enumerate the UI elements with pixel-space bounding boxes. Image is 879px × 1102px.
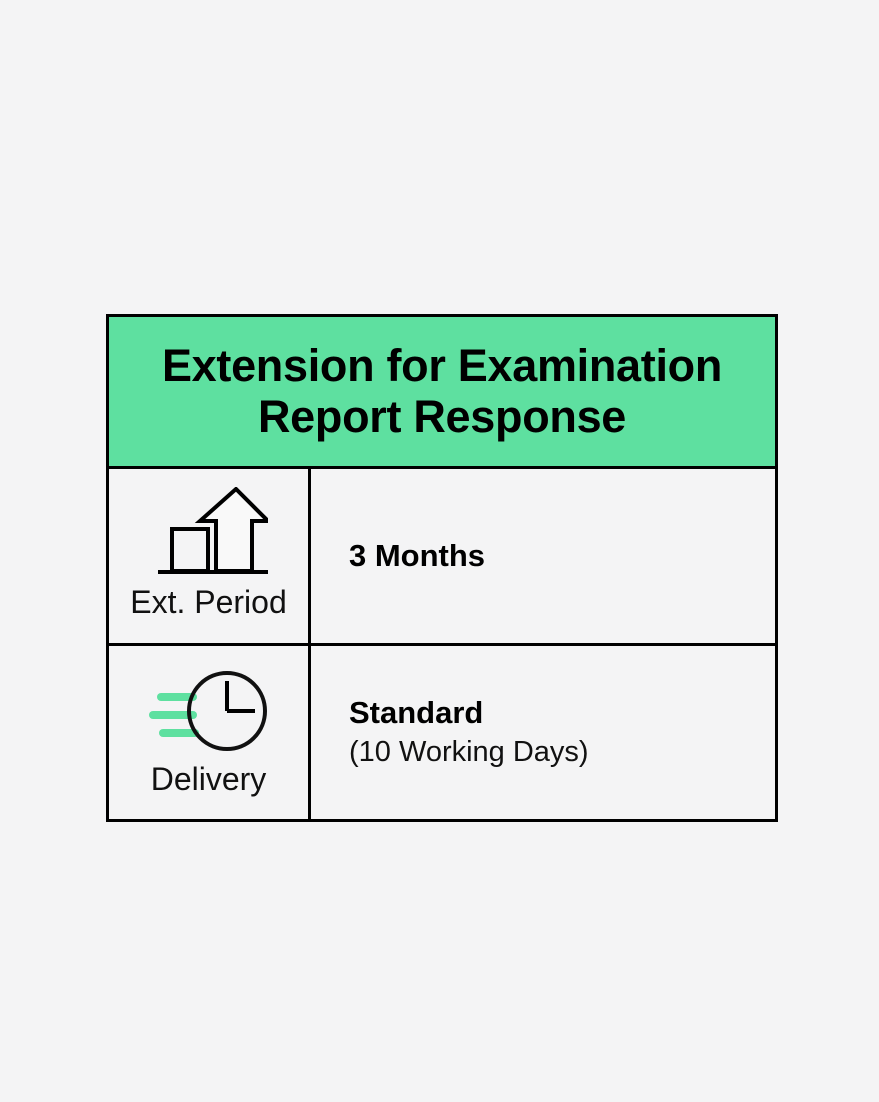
- row-value-primary: 3 Months: [349, 537, 759, 574]
- row-value-primary: Standard: [349, 694, 759, 731]
- card-header: Extension for Examination Report Respons…: [109, 317, 775, 469]
- table-row: Ext. Period 3 Months: [109, 469, 775, 646]
- fast-clock-icon: [149, 664, 269, 756]
- ext-period-value-cell: 3 Months: [311, 469, 775, 643]
- growth-bar-chart-arrow-icon: [150, 487, 268, 579]
- extension-info-card: Extension for Examination Report Respons…: [106, 314, 778, 822]
- row-value-secondary: (10 Working Days): [349, 734, 759, 770]
- page-title: Extension for Examination Report Respons…: [121, 341, 763, 442]
- page-canvas: Extension for Examination Report Respons…: [0, 0, 879, 1102]
- row-label: Delivery: [151, 762, 267, 797]
- ext-period-icon-cell: Ext. Period: [109, 469, 311, 643]
- delivery-icon-cell: Delivery: [109, 646, 311, 820]
- table-row: Delivery Standard (10 Working Days): [109, 646, 775, 820]
- row-label: Ext. Period: [130, 585, 287, 620]
- delivery-value-cell: Standard (10 Working Days): [311, 646, 775, 820]
